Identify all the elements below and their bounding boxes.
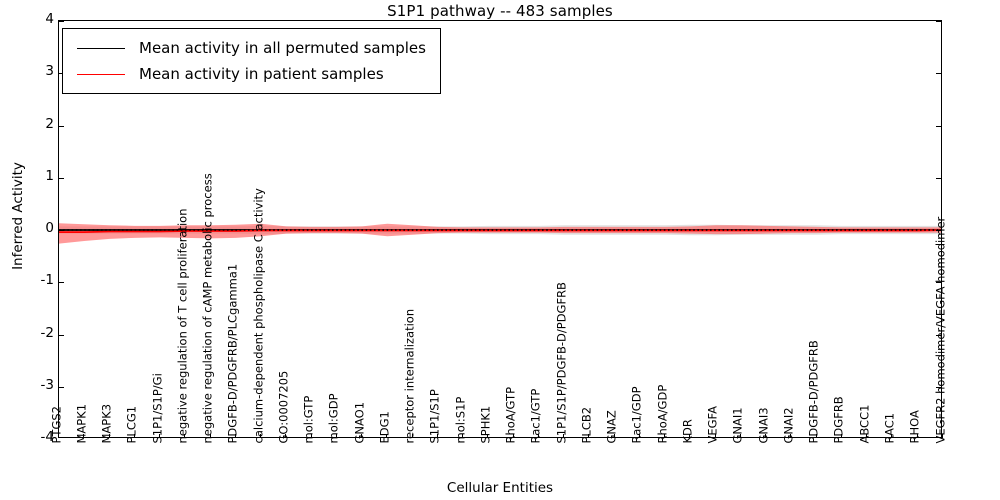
x-tick-mark [866, 434, 867, 438]
legend-label-permuted: Mean activity in all permuted samples [139, 39, 426, 57]
x-tick-mark [285, 434, 286, 438]
x-tick-mark [235, 434, 236, 438]
x-tick-marks [58, 438, 942, 442]
x-tick-mark [841, 434, 842, 438]
x-tick-mark [159, 434, 160, 438]
x-tick-mark [715, 434, 716, 438]
y-tick-mark [59, 335, 64, 336]
x-tick-mark [614, 434, 615, 438]
x-tick-mark [765, 434, 766, 438]
y-tick-label: 0 [8, 220, 54, 236]
x-tick-mark [260, 434, 261, 438]
y-tick-label: 4 [8, 11, 54, 27]
chart-figure: S1P1 pathway -- 483 samples Inferred Act… [0, 0, 1000, 500]
y-tick-mark [59, 126, 64, 127]
legend-item-patient: Mean activity in patient samples [71, 61, 426, 87]
y-tick-mark [59, 387, 64, 388]
y-tick-mark [59, 21, 64, 22]
y-tick-label: 3 [8, 63, 54, 79]
x-tick-mark [639, 434, 640, 438]
x-tick-mark [790, 434, 791, 438]
x-tick-mark [563, 434, 564, 438]
legend-swatch-permuted [77, 48, 125, 49]
x-tick-mark [538, 434, 539, 438]
y-tick-mark [59, 230, 64, 231]
x-tick-mark [134, 434, 135, 438]
x-tick-mark [184, 434, 185, 438]
x-tick-mark [336, 434, 337, 438]
x-tick-mark [58, 434, 59, 438]
x-tick-mark [487, 434, 488, 438]
y-tick-mark [936, 126, 941, 127]
y-tick-label: -2 [8, 325, 54, 341]
y-tick-mark [936, 387, 941, 388]
x-tick-mark [437, 434, 438, 438]
x-axis-label: Cellular Entities [0, 480, 1000, 496]
x-tick-mark [311, 434, 312, 438]
x-tick-mark [513, 434, 514, 438]
x-tick-mark [891, 434, 892, 438]
y-tick-mark [936, 73, 941, 74]
y-tick-mark [936, 230, 941, 231]
x-tick-mark [412, 434, 413, 438]
legend-label-patient: Mean activity in patient samples [139, 65, 384, 83]
x-tick-mark [942, 434, 943, 438]
x-tick-mark [83, 434, 84, 438]
y-tick-label: 2 [8, 116, 54, 132]
x-tick-mark [664, 434, 665, 438]
x-tick-mark [740, 434, 741, 438]
y-tick-label: 1 [8, 168, 54, 184]
x-tick-mark [210, 434, 211, 438]
legend-item-permuted: Mean activity in all permuted samples [71, 35, 426, 61]
chart-legend: Mean activity in all permuted samples Me… [62, 28, 441, 94]
y-tick-label: -1 [8, 272, 54, 288]
y-tick-mark [936, 21, 941, 22]
x-tick-mark [361, 434, 362, 438]
x-tick-mark [689, 434, 690, 438]
y-tick-mark [936, 178, 941, 179]
y-tick-label: -4 [8, 429, 54, 445]
x-tick-mark [462, 434, 463, 438]
y-tick-mark [59, 178, 64, 179]
y-tick-mark [59, 282, 64, 283]
page-title: S1P1 pathway -- 483 samples [0, 2, 1000, 20]
y-tick-mark [936, 282, 941, 283]
y-tick-mark [936, 335, 941, 336]
x-tick-mark [588, 434, 589, 438]
x-tick-mark [816, 434, 817, 438]
x-tick-mark [386, 434, 387, 438]
x-tick-mark [917, 434, 918, 438]
y-tick-label: -3 [8, 377, 54, 393]
legend-swatch-patient [77, 74, 125, 75]
x-tick-mark [109, 434, 110, 438]
